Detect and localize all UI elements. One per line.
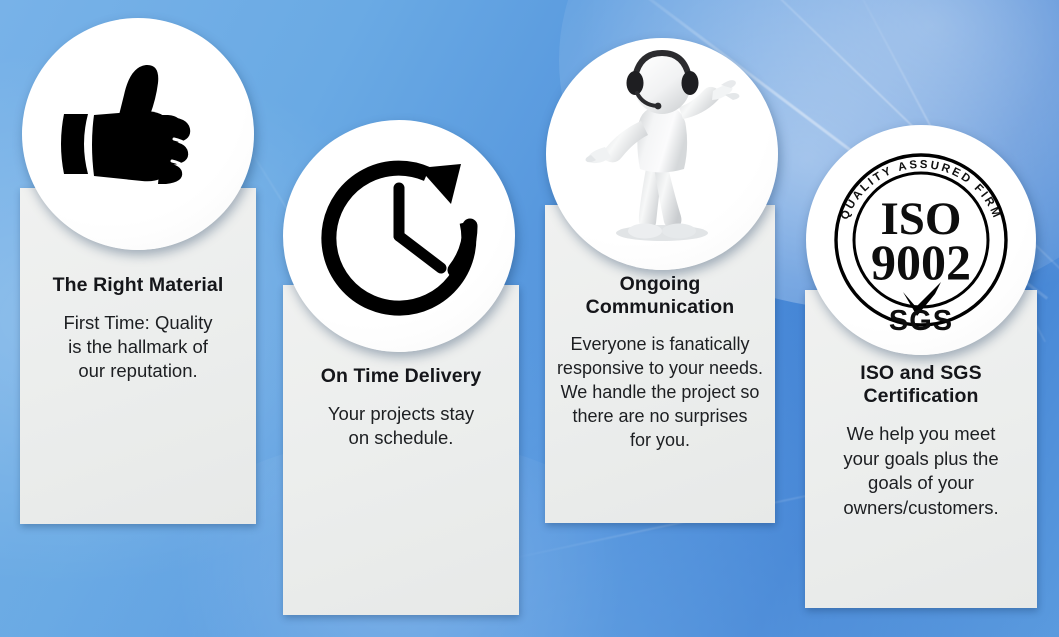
icon-circle-the-right-material [22, 18, 254, 250]
card-body: The Right Material First Time: Quality i… [20, 274, 256, 383]
icon-circle-ongoing-communication [546, 38, 778, 270]
card-description-line: Your projects stay [293, 402, 509, 426]
card-description-line: Everyone is fanatically [555, 333, 765, 357]
iso-number-text: 9002 [871, 234, 971, 290]
card-description: Your projects stay on schedule. [293, 402, 509, 450]
card-description-line: responsive to your needs. [555, 357, 765, 381]
card-title: The Right Material [30, 274, 246, 297]
card-body: Ongoing Communication Everyone is fanati… [545, 273, 775, 453]
card-description-line: is the hallmark of [30, 335, 246, 359]
card-description-line: your goals plus the [815, 447, 1027, 472]
card-description-line: We handle the project so [555, 381, 765, 405]
card-description: Everyone is fanatically responsive to yo… [555, 333, 765, 453]
icon-circle-iso-sgs-certification: QUALITY ASSURED FIRM ISO 9002 SGS [806, 125, 1036, 355]
card-title-line: ISO and SGS [815, 362, 1027, 385]
card-description-line: We help you meet [815, 422, 1027, 447]
card-description-line: First Time: Quality [30, 311, 246, 335]
card-description-line: our reputation. [30, 359, 246, 383]
card-description: We help you meet your goals plus the goa… [815, 422, 1027, 520]
icon-circle-on-time-delivery [283, 120, 515, 352]
card-description-line: for you. [555, 429, 765, 453]
card-description-line: owners/customers. [815, 496, 1027, 521]
clock-arrow-icon [315, 152, 483, 320]
card-description: First Time: Quality is the hallmark of o… [30, 311, 246, 383]
thumbs-up-icon [58, 59, 218, 209]
card-title-line: Certification [815, 385, 1027, 408]
card-title: Ongoing Communication [555, 273, 765, 319]
card-description-line: there are no surprises [555, 405, 765, 429]
card-title: ISO and SGS Certification [815, 362, 1027, 408]
card-title-line: Ongoing [555, 273, 765, 296]
card-description-line: goals of your [815, 471, 1027, 496]
card-title-line: Communication [555, 296, 765, 319]
sgs-certifier-text: SGS [889, 305, 953, 337]
card-title: On Time Delivery [293, 365, 509, 388]
card-description-line: on schedule. [293, 426, 509, 450]
headset-person-icon [555, 47, 770, 262]
iso-9002-sgs-badge-icon: QUALITY ASSURED FIRM ISO 9002 SGS [823, 142, 1019, 338]
card-body: ISO and SGS Certification We help you me… [805, 362, 1037, 520]
card-body: On Time Delivery Your projects stay on s… [283, 365, 519, 450]
infographic-root: The Right Material First Time: Quality i… [0, 0, 1059, 637]
